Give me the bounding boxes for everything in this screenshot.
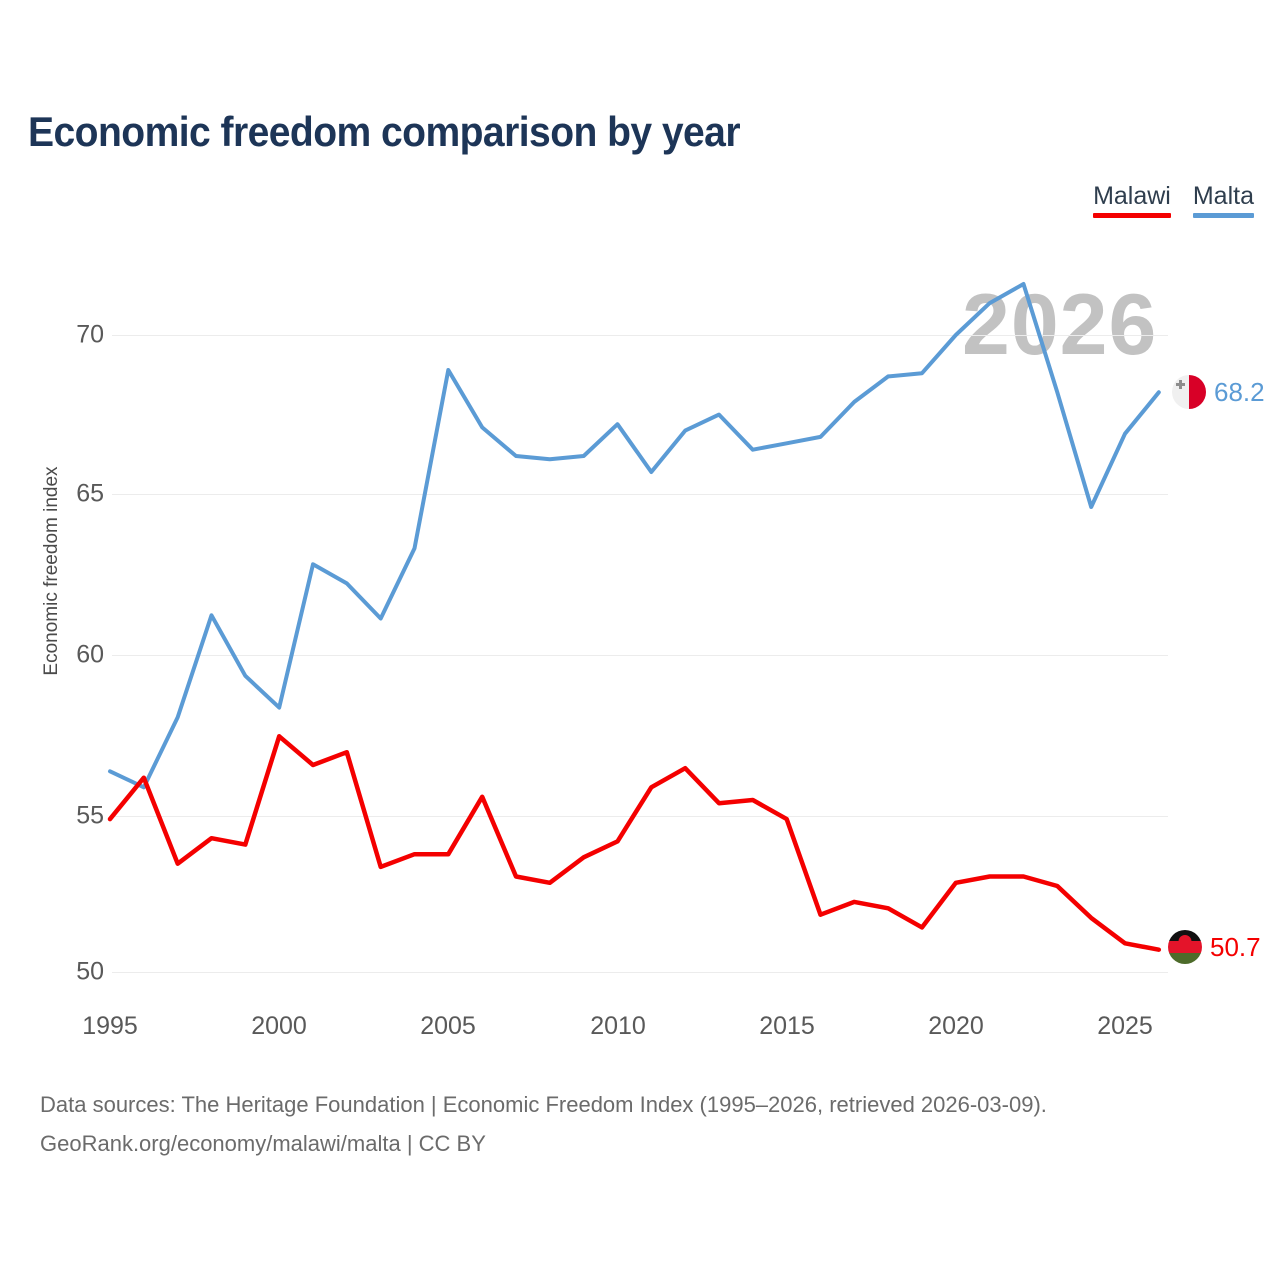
malta-flag-icon — [1172, 375, 1206, 409]
malawi-endpoint: 50.7 — [1168, 930, 1261, 964]
malawi-flag-icon — [1168, 930, 1202, 964]
malta-endpoint-value: 68.2 — [1214, 377, 1265, 408]
malawi-endpoint-value: 50.7 — [1210, 932, 1261, 963]
malta-endpoint: 68.2 — [1172, 375, 1265, 409]
series-line-malawi — [110, 736, 1159, 949]
series-line-malta — [110, 284, 1159, 787]
footer: Data sources: The Heritage Foundation | … — [40, 1086, 1047, 1163]
chart-page: Economic freedom comparison by year Mala… — [0, 0, 1280, 1280]
footer-line-1: Data sources: The Heritage Foundation | … — [40, 1086, 1047, 1125]
footer-line-2: GeoRank.org/economy/malawi/malta | CC BY — [40, 1125, 1047, 1164]
